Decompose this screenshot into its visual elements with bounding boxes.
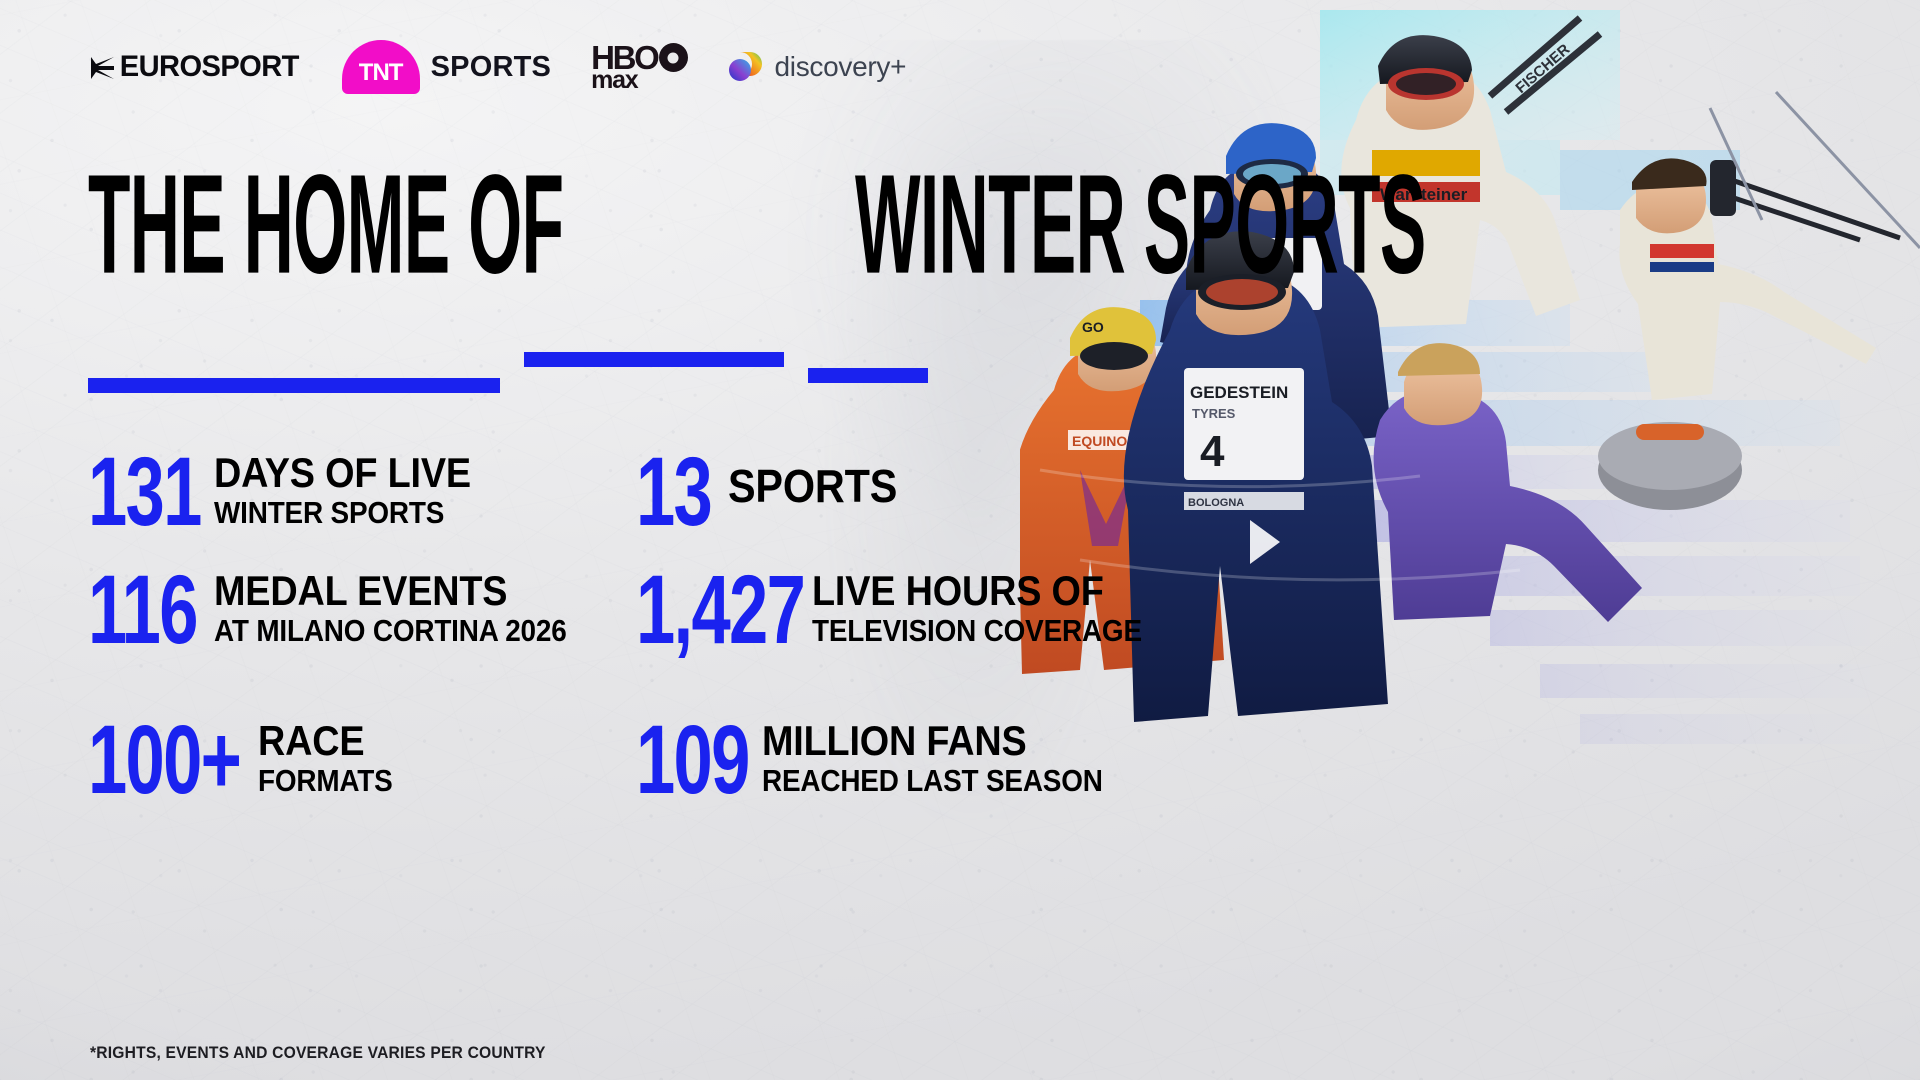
star-icon [88,54,115,81]
stat-live-hours-of-television-coverage: 1,427LIVE HOURS OFTELEVISION COVERAGE [636,570,1179,646]
stat-label-block: LIVE HOURS OFTELEVISION COVERAGE [812,570,1179,646]
footnote-disclaimer: *RIGHTS, EVENTS AND COVERAGE VARIES PER … [90,1043,546,1063]
headline-underline-bar-1 [524,352,784,367]
athlete-collage: Warsteiner FISCHER 48 StoraEnso [1020,0,1920,780]
stat-medal-events: 116MEDAL EVENTSAT MILANO CORTINA 2026 [88,570,606,646]
stat-label-primary: MEDAL EVENTS [214,570,567,612]
headline-underline-bar-0 [88,378,500,393]
stat-label-block: SPORTS [728,452,916,521]
collage-svg: Warsteiner FISCHER 48 StoraEnso [1020,0,1920,780]
stat-label-block: MILLION FANSREACHED LAST SEASON [762,720,1141,796]
logo-eurosport-wordmark: EUROSPORT [120,50,299,84]
stat-number: 131 [88,452,194,540]
stat-number: 13 [636,452,713,532]
logo-tnt-sports[interactable]: TNT SPORTS [342,40,551,94]
headline-underline-bar-2 [808,368,928,383]
stat-label-primary: LIVE HOURS OF [812,570,1142,612]
logo-hbo-max[interactable]: HBO max [591,43,687,91]
svg-text:4: 4 [1200,427,1225,476]
logo-discovery-plus-wordmark: discovery+ [775,51,907,83]
page-title: THE HOME OF WINTER SPORTS [88,186,1775,289]
logo-tnt-sports-wordmark: SPORTS [431,51,551,84]
stat-label-secondary: WINTER SPORTS [214,497,471,528]
hbo-ring-icon [659,43,688,72]
stat-label-primary: RACE [258,720,393,762]
stat-label-primary: SPORTS [728,463,897,509]
tnt-mark-text: TNT [359,59,403,87]
svg-text:GEDESTEIN: GEDESTEIN [1190,383,1288,402]
headline-part-1: THE HOME OF [88,159,563,289]
discovery-orb-icon [728,50,766,84]
logo-discovery-plus[interactable]: discovery+ [728,50,907,84]
stat-race-formats: 100+RACEFORMATS [88,720,408,796]
logo-eurosport[interactable]: EUROSPORT [88,50,302,84]
stat-million-fans-reached: 109MILLION FANSREACHED LAST SEASON [636,720,1141,796]
stat-days-of-live-winter-sports: 131DAYS OF LIVEWINTER SPORTS [88,452,499,528]
logo-max-wordmark: max [591,70,637,91]
stat-number: 116 [88,570,194,658]
stat-label-secondary: AT MILANO CORTINA 2026 [214,615,567,646]
stat-label-block: DAYS OF LIVEWINTER SPORTS [214,452,499,528]
headline-part-2: WINTER SPORTS [855,159,1426,289]
stat-label-primary: DAYS OF LIVE [214,452,471,494]
stat-label-block: MEDAL EVENTSAT MILANO CORTINA 2026 [214,570,606,646]
tnt-mark-icon: TNT [342,40,420,94]
stat-label-secondary: TELEVISION COVERAGE [812,615,1142,646]
stat-sports: 13SPORTS [636,452,916,521]
stat-label-secondary: REACHED LAST SEASON [762,765,1103,796]
stat-number: 109 [636,720,742,808]
stat-number: 100+ [88,720,231,808]
stat-label-block: RACEFORMATS [258,720,408,796]
stat-number: 1,427 [636,570,784,658]
svg-text:GO: GO [1082,319,1104,335]
svg-text:BOLOGNA: BOLOGNA [1188,497,1244,509]
svg-text:TYRES: TYRES [1192,406,1236,421]
stat-label-primary: MILLION FANS [762,720,1103,762]
partner-logo-bar: EUROSPORT TNT SPORTS HBO max [88,44,906,90]
stat-label-secondary: FORMATS [258,765,393,796]
